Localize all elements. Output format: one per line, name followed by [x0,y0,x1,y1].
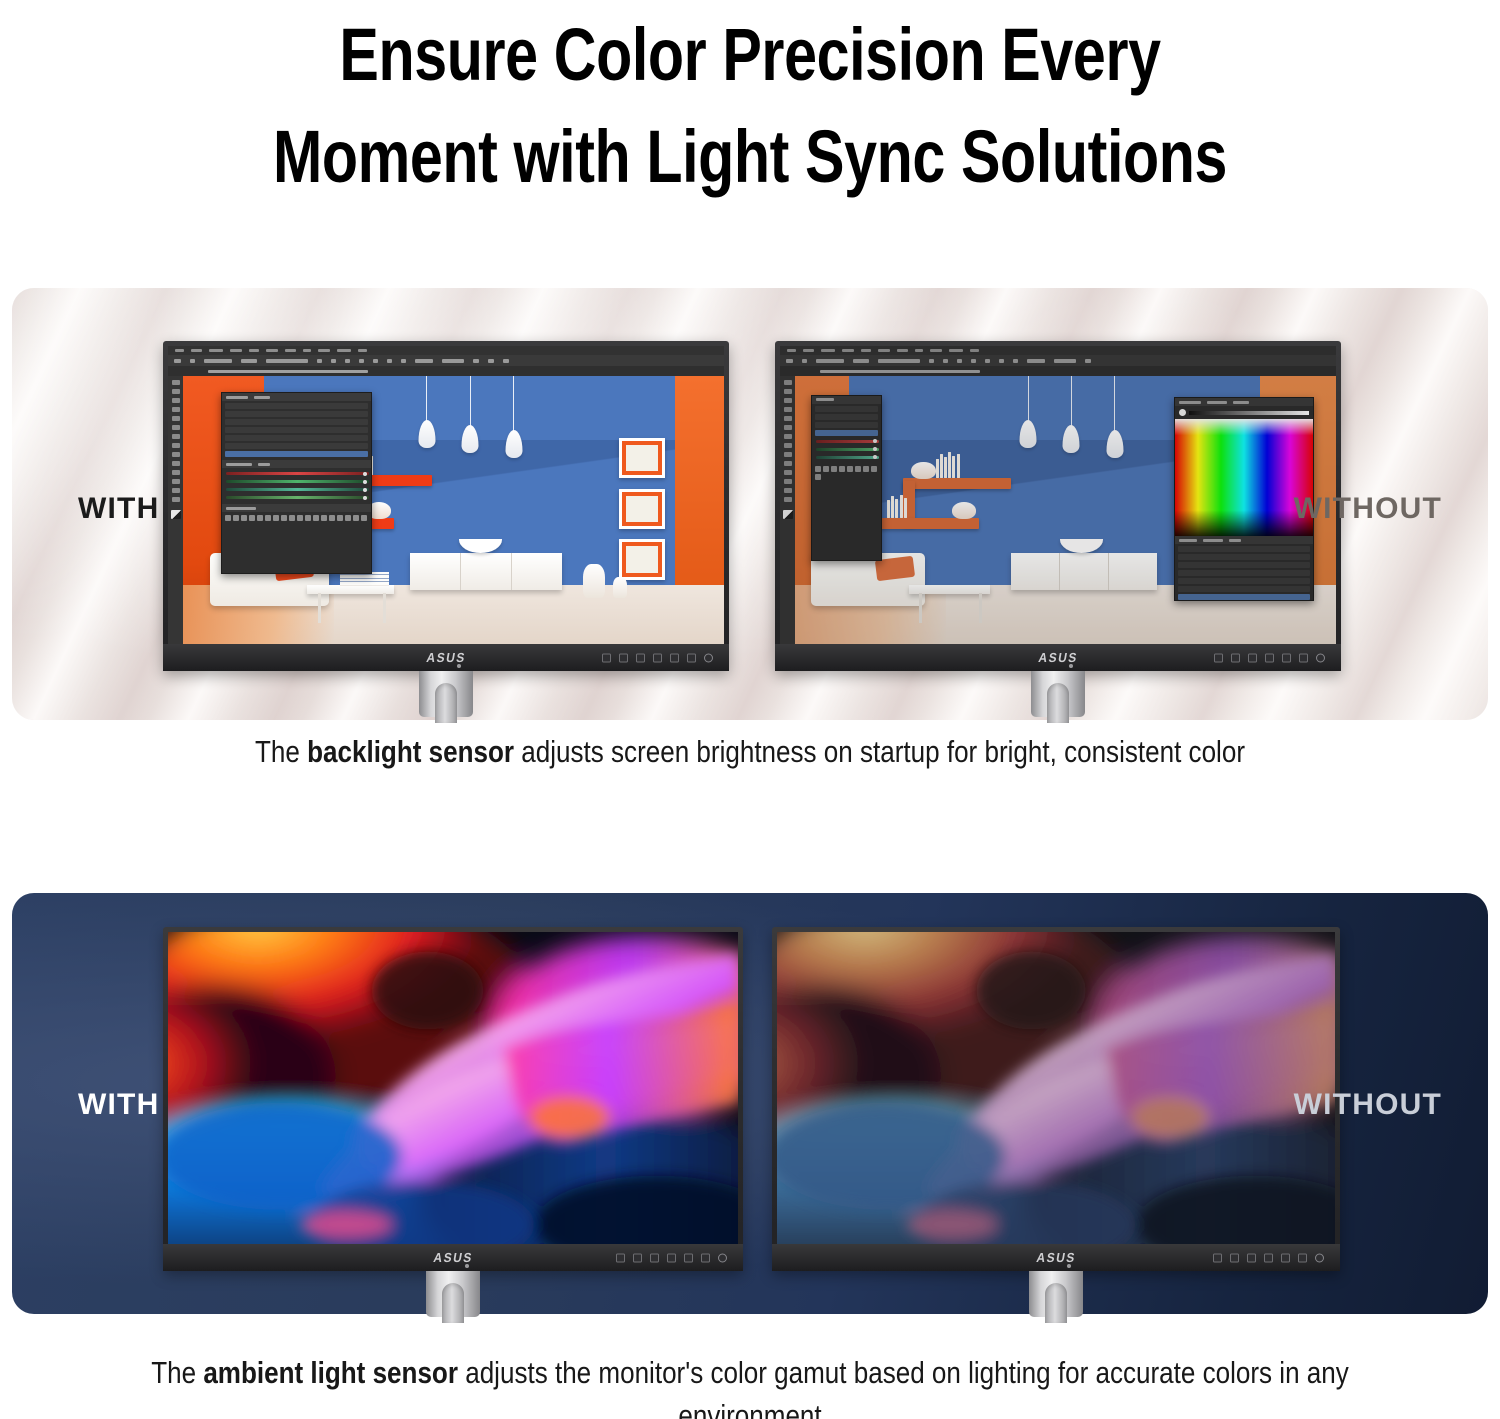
pendant-lamp-3 [1114,376,1115,432]
history-item[interactable] [225,411,368,417]
floor-vase-large [583,564,605,599]
caption-ambient-light-sensor: The ambient light sensor adjusts the mon… [120,1352,1380,1419]
photoshop-document-tab [168,366,724,376]
photoshop-toolbar [168,376,183,644]
osd-button-1[interactable] [616,1253,625,1262]
silk-artwork-svg [168,932,738,1244]
sideboard [1011,553,1157,591]
caption-highlight: backlight sensor [307,734,514,769]
panel-header-history [222,393,371,401]
shelf-lower [876,518,979,529]
history-item[interactable] [225,435,368,441]
history-item[interactable] [225,427,368,433]
osd-button-5[interactable] [684,1253,693,1262]
monitor-with-ambient-sensor: ASUS [163,927,743,1271]
osd-button-2[interactable] [619,653,628,662]
layer-row[interactable] [1178,562,1311,568]
osd-button-4[interactable] [1265,653,1274,662]
power-led [1067,1264,1071,1268]
osd-button-2[interactable] [633,1253,642,1262]
layer-row[interactable] [1178,554,1311,560]
silk-artwork-svg [777,932,1335,1244]
label-without-panel-2: WITHOUT [1294,1088,1442,1122]
monitor-with-backlight-sensor: ASUS [163,341,729,671]
label-with-panel-2: WITH [78,1088,159,1122]
pendant-lamp-1 [426,376,427,422]
slider-saturation[interactable] [226,479,367,484]
wall-frame-3 [619,539,665,579]
monitor-control-buttons[interactable] [1213,1253,1324,1262]
history-item[interactable] [225,403,368,409]
osd-button-6[interactable] [701,1253,710,1262]
adjustments-icon-grid[interactable] [222,512,371,524]
photoshop-canvas [183,376,724,644]
osd-button-2[interactable] [1230,1253,1239,1262]
history-item-selected[interactable] [225,451,368,457]
page-title: Ensure Color Precision Every Moment with… [150,0,1350,208]
pendant-lamp-3 [513,376,514,432]
osd-button-3[interactable] [636,653,645,662]
layer-row[interactable] [1178,586,1311,592]
monitor-without-backlight-sensor: ASUS [775,341,1341,671]
slider-hue[interactable] [816,439,876,444]
layer-row-selected[interactable] [1178,594,1311,600]
wall-frame-1 [619,438,665,478]
monitor-stand [1029,1271,1083,1317]
asus-logo: ASUS [1035,1250,1077,1265]
caption-prefix: The [255,734,307,769]
history-item[interactable] [225,419,368,425]
history-item[interactable] [815,406,877,412]
photoshop-interface [168,346,724,644]
history-item-selected[interactable] [815,430,877,436]
osd-button-1[interactable] [602,653,611,662]
osd-button-6[interactable] [1298,1253,1307,1262]
monitor-screen [780,346,1336,644]
asus-logo: ASUS [425,650,467,665]
osd-button-3[interactable] [650,1253,659,1262]
monitor-chin: ASUS [163,1244,743,1271]
caption-prefix: The [151,1355,203,1390]
monitor-bezel: ASUS [775,341,1341,671]
panel-header-layers [1175,536,1314,544]
history-item[interactable] [815,414,877,420]
osd-button-4[interactable] [653,653,662,662]
vase-lower-shelf [952,502,976,519]
photoshop-toolbar [780,376,795,644]
osd-button-5[interactable] [1282,653,1291,662]
monitor-control-buttons[interactable] [616,1253,727,1262]
monitor-screen [168,346,724,644]
photoshop-document-tab [780,366,1336,376]
asus-logo: ASUS [432,1250,474,1265]
vase-upper-shelf [911,462,935,479]
caption-suffix: adjusts the monitor's color gamut based … [458,1355,1349,1419]
monitor-chin: ASUS [772,1244,1340,1271]
history-item[interactable] [815,422,877,428]
caption-highlight: ambient light sensor [203,1355,458,1390]
sideboard [410,553,561,591]
power-button[interactable] [704,653,713,662]
photoshop-menu-bar [780,346,1336,355]
monitor-chin: ASUS [775,644,1341,671]
power-led [457,664,461,668]
monitor-control-buttons[interactable] [1214,653,1325,662]
product-feature-graphic: Ensure Color Precision Every Moment with… [0,0,1500,1419]
photoshop-options-bar [168,355,724,366]
monitor-bezel: ASUS [163,927,743,1271]
monitor-screen [168,932,738,1244]
panel-header-properties [222,460,371,468]
books-upper [936,451,960,478]
osd-button-3[interactable] [1247,1253,1256,1262]
monitor-without-ambient-sensor: ASUS [772,927,1340,1271]
osd-button-4[interactable] [667,1253,676,1262]
panel-header-color [1175,398,1314,406]
shelf-upper [903,478,1011,489]
abstract-silk-artwork-desaturated [777,932,1335,1244]
panel-header-adjustments [222,504,371,512]
monitor-bezel: ASUS [772,927,1340,1271]
power-button[interactable] [1315,1253,1324,1262]
side-table-leg-left [318,593,321,622]
slider-saturation[interactable] [816,447,876,452]
label-with-panel-1: WITH [78,492,159,526]
osd-button-5[interactable] [1281,1253,1290,1262]
monitor-chin: ASUS [163,644,729,671]
abstract-silk-artwork-vivid [168,932,738,1244]
monitor-stand [426,1271,480,1317]
caption-backlight-sensor: The backlight sensor adjusts screen brig… [120,731,1380,774]
osd-button-1[interactable] [1214,653,1223,662]
slider-hue[interactable] [226,471,367,476]
osd-button-6[interactable] [1299,653,1308,662]
layer-row[interactable] [1178,546,1311,552]
asus-logo: ASUS [1037,650,1079,665]
power-button[interactable] [1316,653,1325,662]
osd-button-4[interactable] [1264,1253,1273,1262]
books-lower [887,494,907,518]
pendant-lamp-2 [470,376,471,427]
photoshop-interface [780,346,1336,644]
power-led [465,1264,469,1268]
photoshop-history-properties-panel[interactable] [221,392,372,574]
monitor-bezel: ASUS [163,341,729,671]
osd-button-2[interactable] [1231,653,1240,662]
photoshop-options-bar [780,355,1336,366]
layer-row[interactable] [1178,570,1311,576]
photoshop-canvas [795,376,1336,644]
color-picker-ramp[interactable] [1175,419,1314,536]
power-button[interactable] [718,1253,727,1262]
photoshop-history-panel[interactable] [811,395,881,561]
color-swatch-row[interactable] [1175,406,1314,419]
osd-button-3[interactable] [1248,653,1257,662]
monitor-control-buttons[interactable] [602,653,713,662]
osd-button-6[interactable] [687,653,696,662]
monitor-stand [1031,671,1085,717]
osd-button-5[interactable] [670,653,679,662]
layer-row[interactable] [1178,578,1311,584]
slider-exposure[interactable] [226,495,367,500]
floor-vase-small [613,577,627,598]
side-table-leg-left [919,593,922,622]
osd-button-1[interactable] [1213,1253,1222,1262]
panel-header-history [812,396,880,404]
slider-lightness[interactable] [816,455,876,460]
wall-frame-2 [619,489,665,529]
power-led [1069,664,1073,668]
caption-suffix: adjusts screen brightness on startup for… [514,734,1245,769]
monitor-stand [419,671,473,717]
side-table-leg-right [383,593,386,622]
pendant-lamp-2 [1071,376,1072,427]
monitor-screen [777,932,1335,1244]
photoshop-menu-bar [168,346,724,355]
pendant-lamp-1 [1028,376,1029,422]
side-table-leg-right [979,593,982,622]
slider-lightness[interactable] [226,487,367,492]
history-item[interactable] [225,443,368,449]
adjustments-icon-grid[interactable] [812,463,880,483]
label-without-panel-1: WITHOUT [1294,492,1442,526]
